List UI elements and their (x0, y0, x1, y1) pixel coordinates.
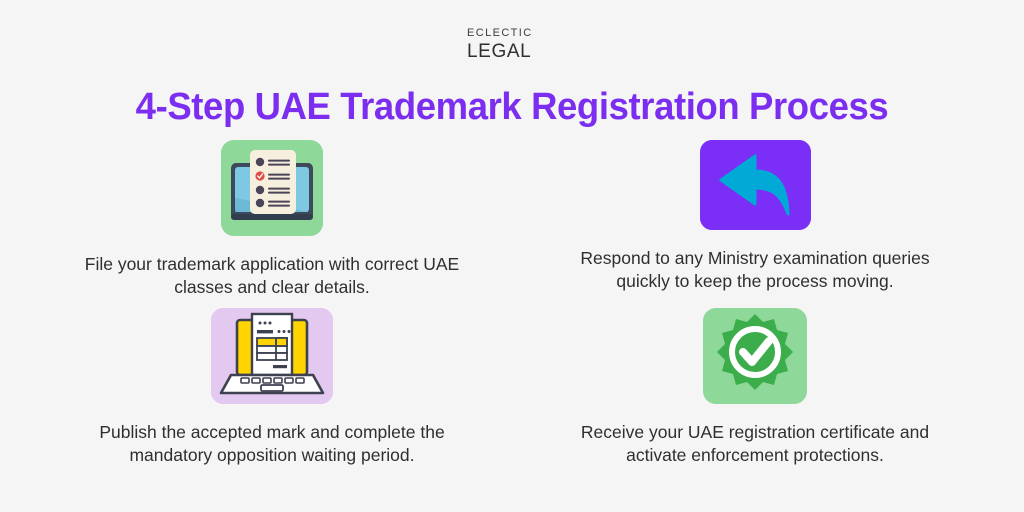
brand-logo-line2: LEGAL (467, 42, 533, 61)
step-item-3: Publish the accepted mark and complete t… (42, 308, 502, 467)
step-item-1: File your trademark application with cor… (42, 140, 502, 299)
step-2-caption: Respond to any Ministry examination quer… (565, 247, 945, 293)
step-2-icon (700, 140, 811, 235)
checklist-monitor-icon (221, 140, 323, 236)
reply-arrow-icon (700, 140, 811, 230)
step-item-4: Receive your UAE registration certificat… (525, 308, 985, 467)
page-title: 4-Step UAE Trademark Registration Proces… (20, 86, 1003, 129)
laptop-document-icon (211, 308, 333, 404)
step-3-icon (211, 308, 333, 409)
step-item-2: Respond to any Ministry examination quer… (525, 140, 985, 293)
step-4-icon (703, 308, 807, 409)
verified-badge-check-icon (703, 308, 807, 404)
step-1-caption: File your trademark application with cor… (72, 253, 472, 299)
step-4-caption: Receive your UAE registration certificat… (555, 421, 955, 467)
step-3-caption: Publish the accepted mark and complete t… (72, 421, 472, 467)
brand-logo: ECLECTIC LEGAL (467, 28, 533, 61)
step-1-icon (221, 140, 323, 241)
infographic-canvas: ECLECTIC LEGAL 4-Step UAE Trademark Regi… (0, 0, 1024, 512)
brand-logo-line1: ECLECTIC (467, 28, 533, 39)
